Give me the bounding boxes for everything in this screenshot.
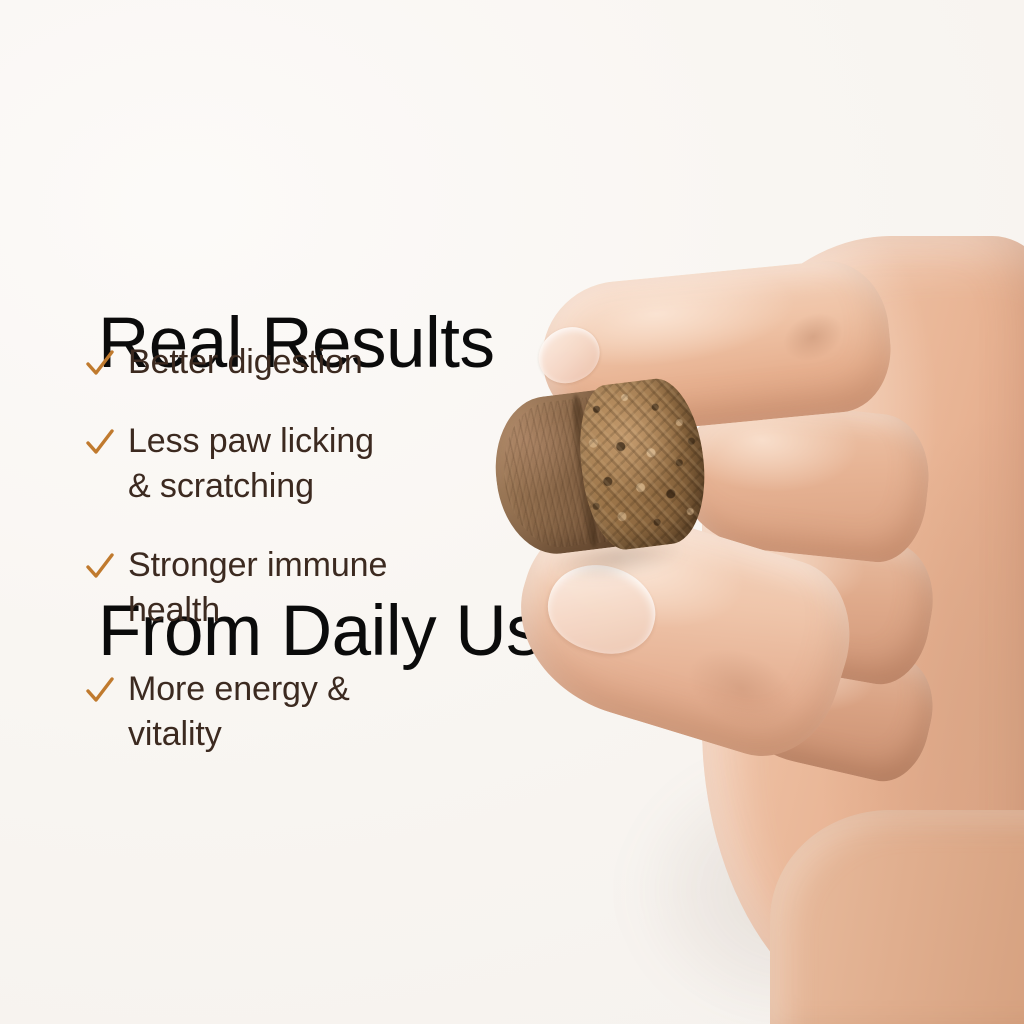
- promo-card: Real Results From Daily Use Better diges…: [0, 0, 1024, 1024]
- list-item: More energy & vitality: [84, 667, 504, 757]
- benefit-label: More energy & vitality: [128, 667, 350, 757]
- benefit-label: Better digestion: [128, 340, 363, 385]
- check-icon: [84, 545, 116, 587]
- benefit-label: Stronger immune health: [128, 543, 387, 633]
- middle-finger: [671, 393, 935, 566]
- wrist: [770, 810, 1024, 1024]
- thumb-crease: [653, 615, 828, 760]
- list-item: Better digestion: [84, 340, 504, 385]
- check-icon: [84, 421, 116, 463]
- list-item: Stronger immune health: [84, 543, 504, 633]
- index-knuckle-crease: [761, 291, 865, 383]
- check-icon: [84, 342, 116, 384]
- check-icon: [84, 669, 116, 711]
- benefit-label: Less paw licking & scratching: [128, 419, 374, 509]
- hand-palm: [702, 236, 1024, 1024]
- benefits-list: Better digestion Less paw licking & scra…: [84, 340, 504, 757]
- ring-finger: [685, 511, 942, 692]
- hand-inner-shadow: [716, 432, 928, 762]
- pinky-finger: [714, 620, 943, 789]
- list-item: Less paw licking & scratching: [84, 419, 504, 509]
